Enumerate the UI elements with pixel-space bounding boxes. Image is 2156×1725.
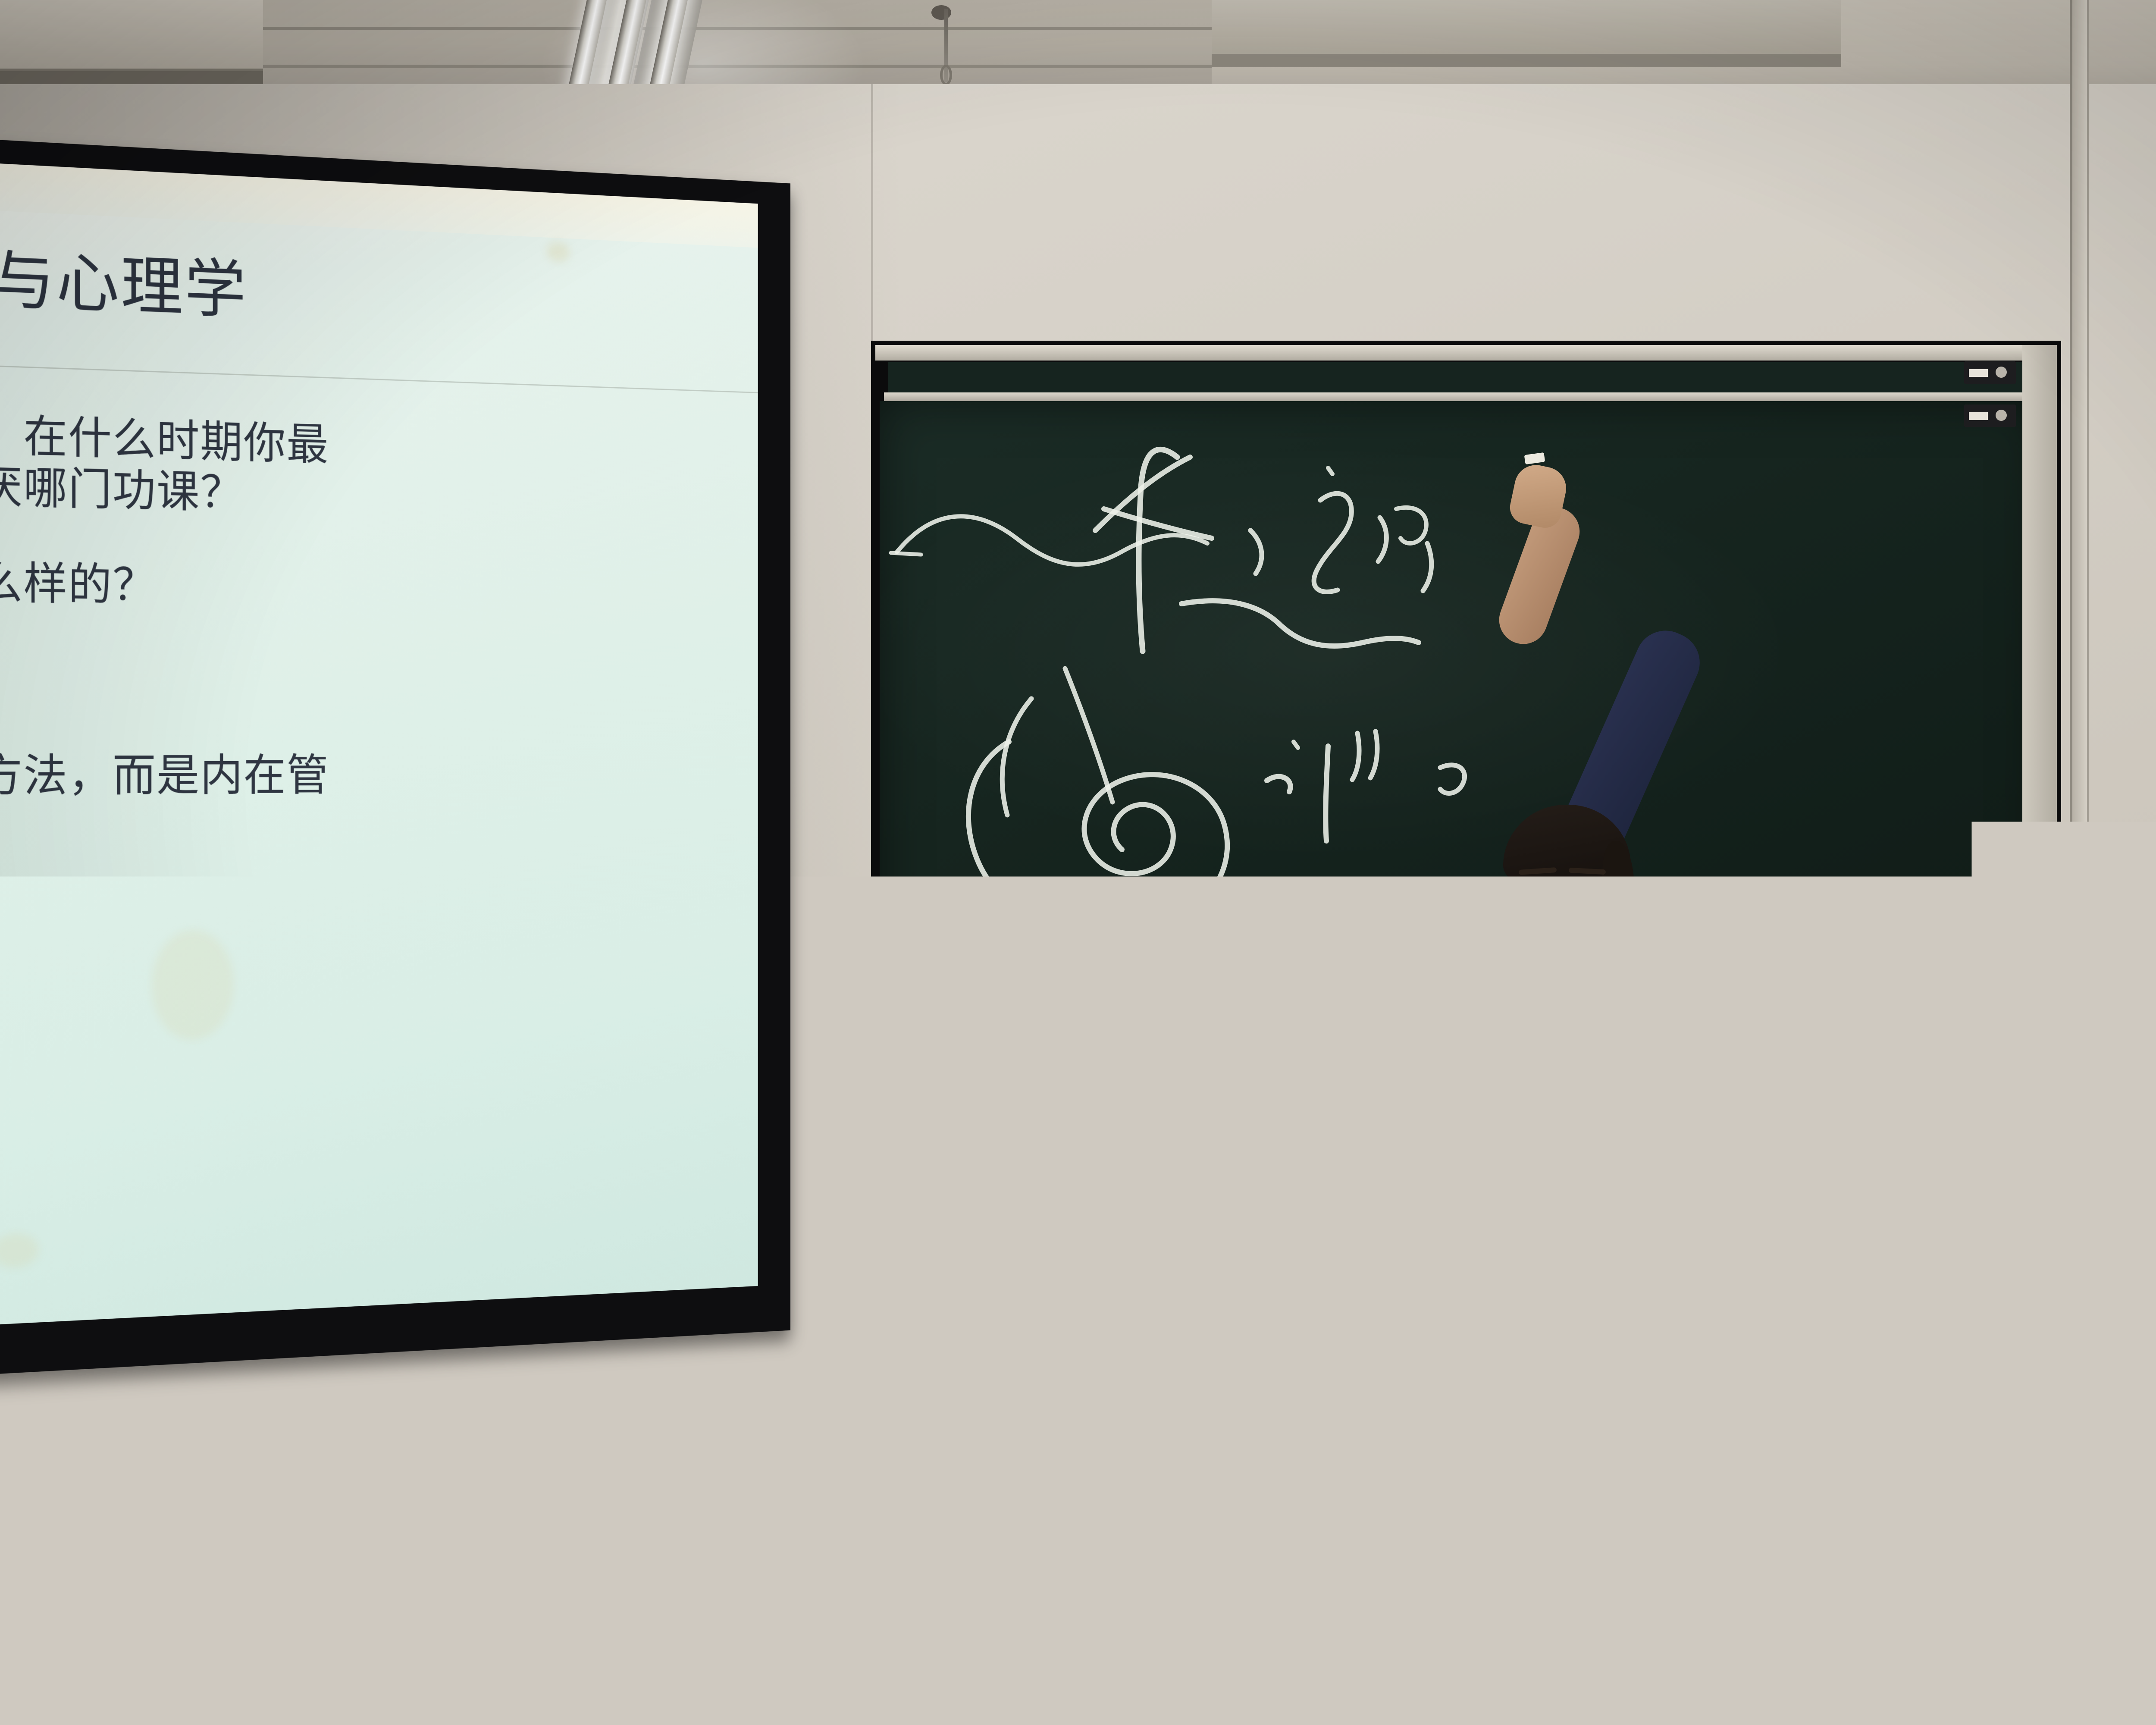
slide-bullet-4: 里来的？ <box>0 646 615 714</box>
ceiling-beam-right <box>1212 0 1841 56</box>
podium-grille-glow <box>431 1578 1035 1721</box>
blackboard-rear-panel-edge <box>884 392 2053 402</box>
blackboard-top-rail[interactable] <box>875 345 2057 361</box>
podium-emblem-arrow-icon <box>729 1376 805 1458</box>
eyeglasses-lens-right <box>1566 879 1611 907</box>
student-4-neck <box>2147 1600 2156 1712</box>
student-back-row-4 <box>2070 1358 2156 1725</box>
student-4-shirt <box>2096 1699 2156 1725</box>
instructor <box>1423 763 1725 1333</box>
ceiling-beam-left-shadow <box>0 71 263 84</box>
slide-bullet-3: 觉是怎么样的？ <box>0 549 615 623</box>
ceiling-beam-right-shadow <box>1212 56 1841 67</box>
projection-screen: 学习与心理学 学以来，在什么时期你最 ？最讨厌哪门功课？ 觉是怎么样的？ 里来的… <box>0 138 790 1376</box>
slide-title: 学习与心理学 <box>0 221 577 344</box>
eyeglasses-bridge <box>1559 888 1568 891</box>
instructor-mouth <box>1540 938 1580 946</box>
wall-pillar-edge-2 <box>2087 0 2089 1423</box>
screen-smudge-3 <box>0 1233 39 1269</box>
microphone-led-indicator <box>638 1065 652 1075</box>
wall-crack-line <box>949 1057 951 1298</box>
slide-bullet-5: 是技术方法，而是内在管 <box>0 744 615 808</box>
wall-pillar-face <box>2072 0 2087 1423</box>
wall-paint-chip <box>953 1095 960 1212</box>
student-4-hair <box>2122 1358 2156 1600</box>
podium-top-edge <box>276 1289 1225 1298</box>
ceiling-beam-left <box>0 0 263 71</box>
belt-buckle <box>1551 1239 1576 1255</box>
student-3-hair <box>1587 1488 1828 1725</box>
podium-emblem-glint <box>690 1466 832 1496</box>
classroom-photograph: LEAVES 学习与心理学 <box>0 0 2156 1725</box>
microphone-led-top <box>642 1044 646 1051</box>
wall-pillar-edge-1 <box>2070 0 2072 1423</box>
gooseneck-microphone[interactable] <box>636 1035 653 1082</box>
slide-body: 学以来，在什么时期你最 ？最讨厌哪门功课？ 觉是怎么样的？ 里来的？ 是技术方法… <box>0 399 615 842</box>
instructor-nose <box>1552 900 1568 927</box>
podium-panel-divider <box>388 1551 1121 1555</box>
ceiling-mount-nub <box>931 5 951 20</box>
slide-divider-rule <box>0 364 758 393</box>
student-back-row-3 <box>1570 1488 1889 1725</box>
blackboard-slide-knob-upper[interactable] <box>1996 367 2007 378</box>
chain-link-icon <box>940 65 952 85</box>
podium-latch-knob[interactable] <box>755 1544 770 1565</box>
instructor-trousers <box>1531 1255 1621 1337</box>
screen-smudge-2 <box>151 929 234 1041</box>
blackboard-track-chip-upper <box>1969 369 1988 377</box>
